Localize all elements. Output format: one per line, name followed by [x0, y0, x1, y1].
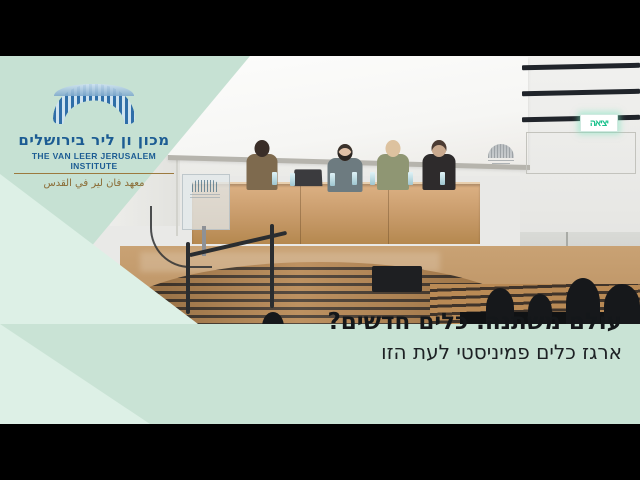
laptop-icon: [294, 169, 323, 186]
lectern-logo-icon: [192, 180, 218, 192]
water-bottle: [272, 172, 277, 185]
panel-table: [192, 184, 480, 244]
van-leer-dome-icon: [53, 84, 135, 126]
water-bottle: [330, 173, 335, 186]
wall-institute-logo-icon: [488, 144, 518, 170]
table-seam: [388, 186, 389, 244]
water-bottle: [290, 173, 295, 186]
institute-name-hebrew: מכון ון ליר בירושלים: [14, 132, 174, 149]
panelist-3: [376, 140, 410, 188]
event-subtitle: ארגז כלים פמיניסטי לעת הזו: [327, 340, 622, 364]
auditorium-photo: יציאה: [0, 56, 640, 424]
panelist-body: [377, 154, 409, 190]
event-title: עולם משתנה. כלים חדשים?: [327, 310, 622, 336]
panelist-body: [423, 154, 456, 190]
stage-handrail-post: [186, 242, 190, 314]
exit-sign-label: יציאה: [590, 119, 608, 128]
floor-monitor-speaker: [372, 266, 422, 292]
institute-logo: מכון ון ליר בירושלים THE VAN LEER JERUSA…: [14, 84, 174, 189]
water-bottle: [352, 172, 357, 185]
panelist-head: [338, 144, 353, 161]
water-bottle: [440, 172, 445, 185]
panelist-head: [386, 140, 401, 157]
lectern-logo-text: [190, 194, 220, 200]
water-bottle: [408, 172, 413, 185]
panelist-head: [432, 140, 447, 157]
institute-name-english: THE VAN LEER JERUSALEM INSTITUTE: [14, 151, 174, 174]
panelist-4: [422, 140, 456, 188]
exit-sign-icon: יציאה: [580, 114, 618, 132]
video-still-frame: יציאה: [0, 0, 640, 480]
wall-panel-frame: [526, 132, 636, 174]
stage-handrail-post: [270, 224, 274, 308]
title-block: עולם משתנה. כלים חדשים? ארגז כלים פמיניס…: [327, 310, 622, 364]
table-seam: [300, 186, 301, 244]
letterbox-bottom: [0, 424, 640, 480]
panelist-head: [255, 140, 270, 157]
institute-name-arabic: معهد فان لير في القدس: [14, 178, 174, 189]
water-bottle: [370, 172, 375, 185]
letterbox-top: [0, 0, 640, 56]
